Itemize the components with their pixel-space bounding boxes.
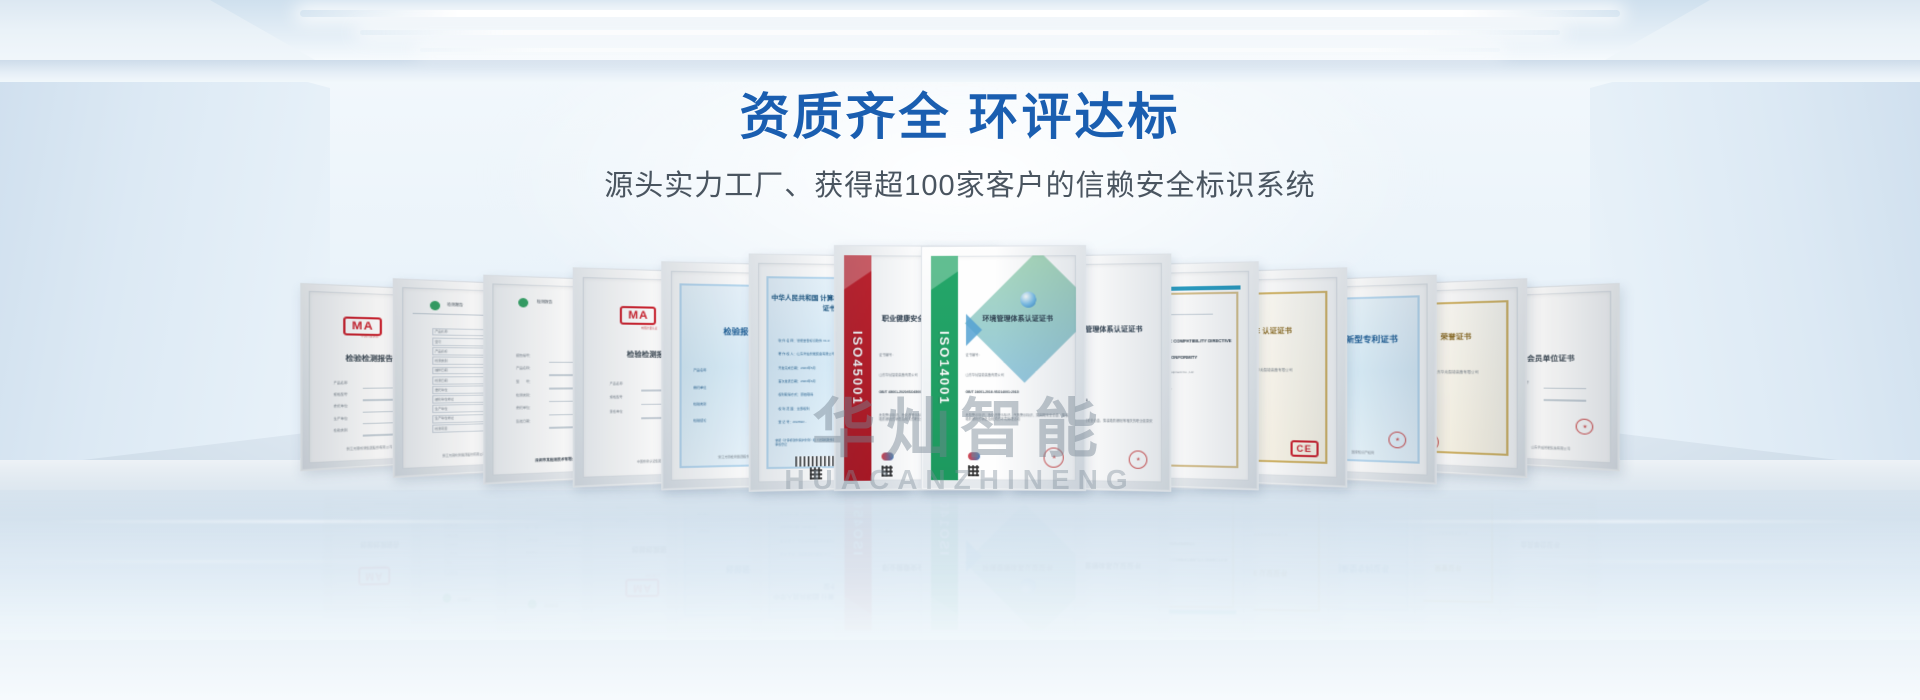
- ceiling-light-strip: [300, 10, 1620, 17]
- certificate-content: ISO14001环境管理体系认证证书证书编号：山东华灿智能装备有限公司GB/T …: [931, 490, 1076, 630]
- banner-header: 资质齐全 环评达标 源头实力工厂、获得超100家客户的信赖安全标识系统: [0, 88, 1920, 204]
- certificate-spine: ISO14001: [931, 490, 958, 630]
- certificate-spine: ISO14001: [931, 256, 958, 480]
- ceiling-light-strip: [360, 30, 1560, 35]
- certificate-reflection: MA中国计量认证检验检测报告产品名称规格型号委托单位生产单位检验类别浙江方圆检测…: [0, 490, 1920, 640]
- certificate-card[interactable]: ISO14001环境管理体系认证证书证书编号：山东华灿智能装备有限公司GB/T …: [921, 245, 1086, 491]
- ceiling-light-strip: [420, 48, 1500, 52]
- certificate-spine: ISO45001: [845, 490, 873, 630]
- page-subtitle: 源头实力工厂、获得超100家客户的信赖安全标识系统: [0, 162, 1920, 204]
- certificate-spine: ISO45001: [844, 255, 872, 481]
- certificate-card[interactable]: ISO14001环境管理体系认证证书证书编号：山东华灿智能装备有限公司GB/T …: [921, 490, 1086, 640]
- page-title: 资质齐全 环评达标: [0, 88, 1920, 146]
- banner-stage: 资质齐全 环评达标 源头实力工厂、获得超100家客户的信赖安全标识系统 MA中国…: [0, 0, 1920, 700]
- certificate-shelf: MA中国计量认证检验检测报告产品名称规格型号委托单位生产单位检验类别浙江方圆检测…: [0, 228, 1920, 490]
- certificate-content: ISO14001环境管理体系认证证书证书编号：山东华灿智能装备有限公司GB/T …: [931, 255, 1076, 481]
- ceiling-bevel: [0, 60, 1920, 82]
